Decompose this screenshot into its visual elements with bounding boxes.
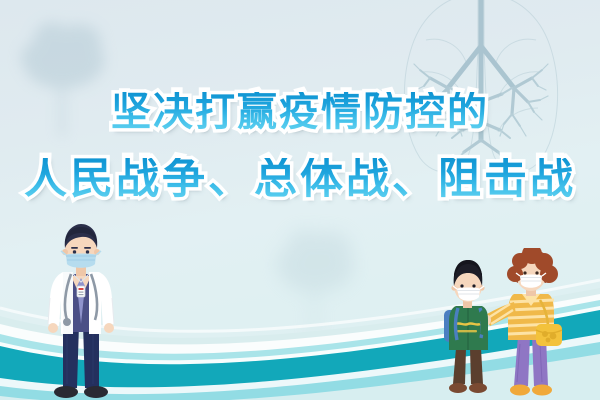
headline-line-2-fill: 人民战争、总体战、阻击战	[0, 158, 600, 201]
headline-line-1-fill: 坚决打赢疫情防控的	[0, 92, 600, 132]
headline-line-2: 人民战争、总体战、阻击战 人民战争、总体战、阻击战	[0, 158, 600, 216]
doctor-character	[33, 220, 129, 400]
blurred-tree-watermark-center	[268, 226, 360, 336]
mother-character	[477, 248, 562, 396]
headline-block: 坚决打赢疫情防控的 坚决打赢疫情防控的 人民战争、总体战、阻击战 人民战争、总体…	[0, 92, 600, 216]
family-characters	[436, 248, 586, 400]
headline-line-1: 坚决打赢疫情防控的 坚决打赢疫情防控的	[0, 92, 600, 148]
child-character	[444, 260, 488, 393]
poster-canvas: 坚决打赢疫情防控的 坚决打赢疫情防控的 人民战争、总体战、阻击战 人民战争、总体…	[0, 0, 600, 400]
